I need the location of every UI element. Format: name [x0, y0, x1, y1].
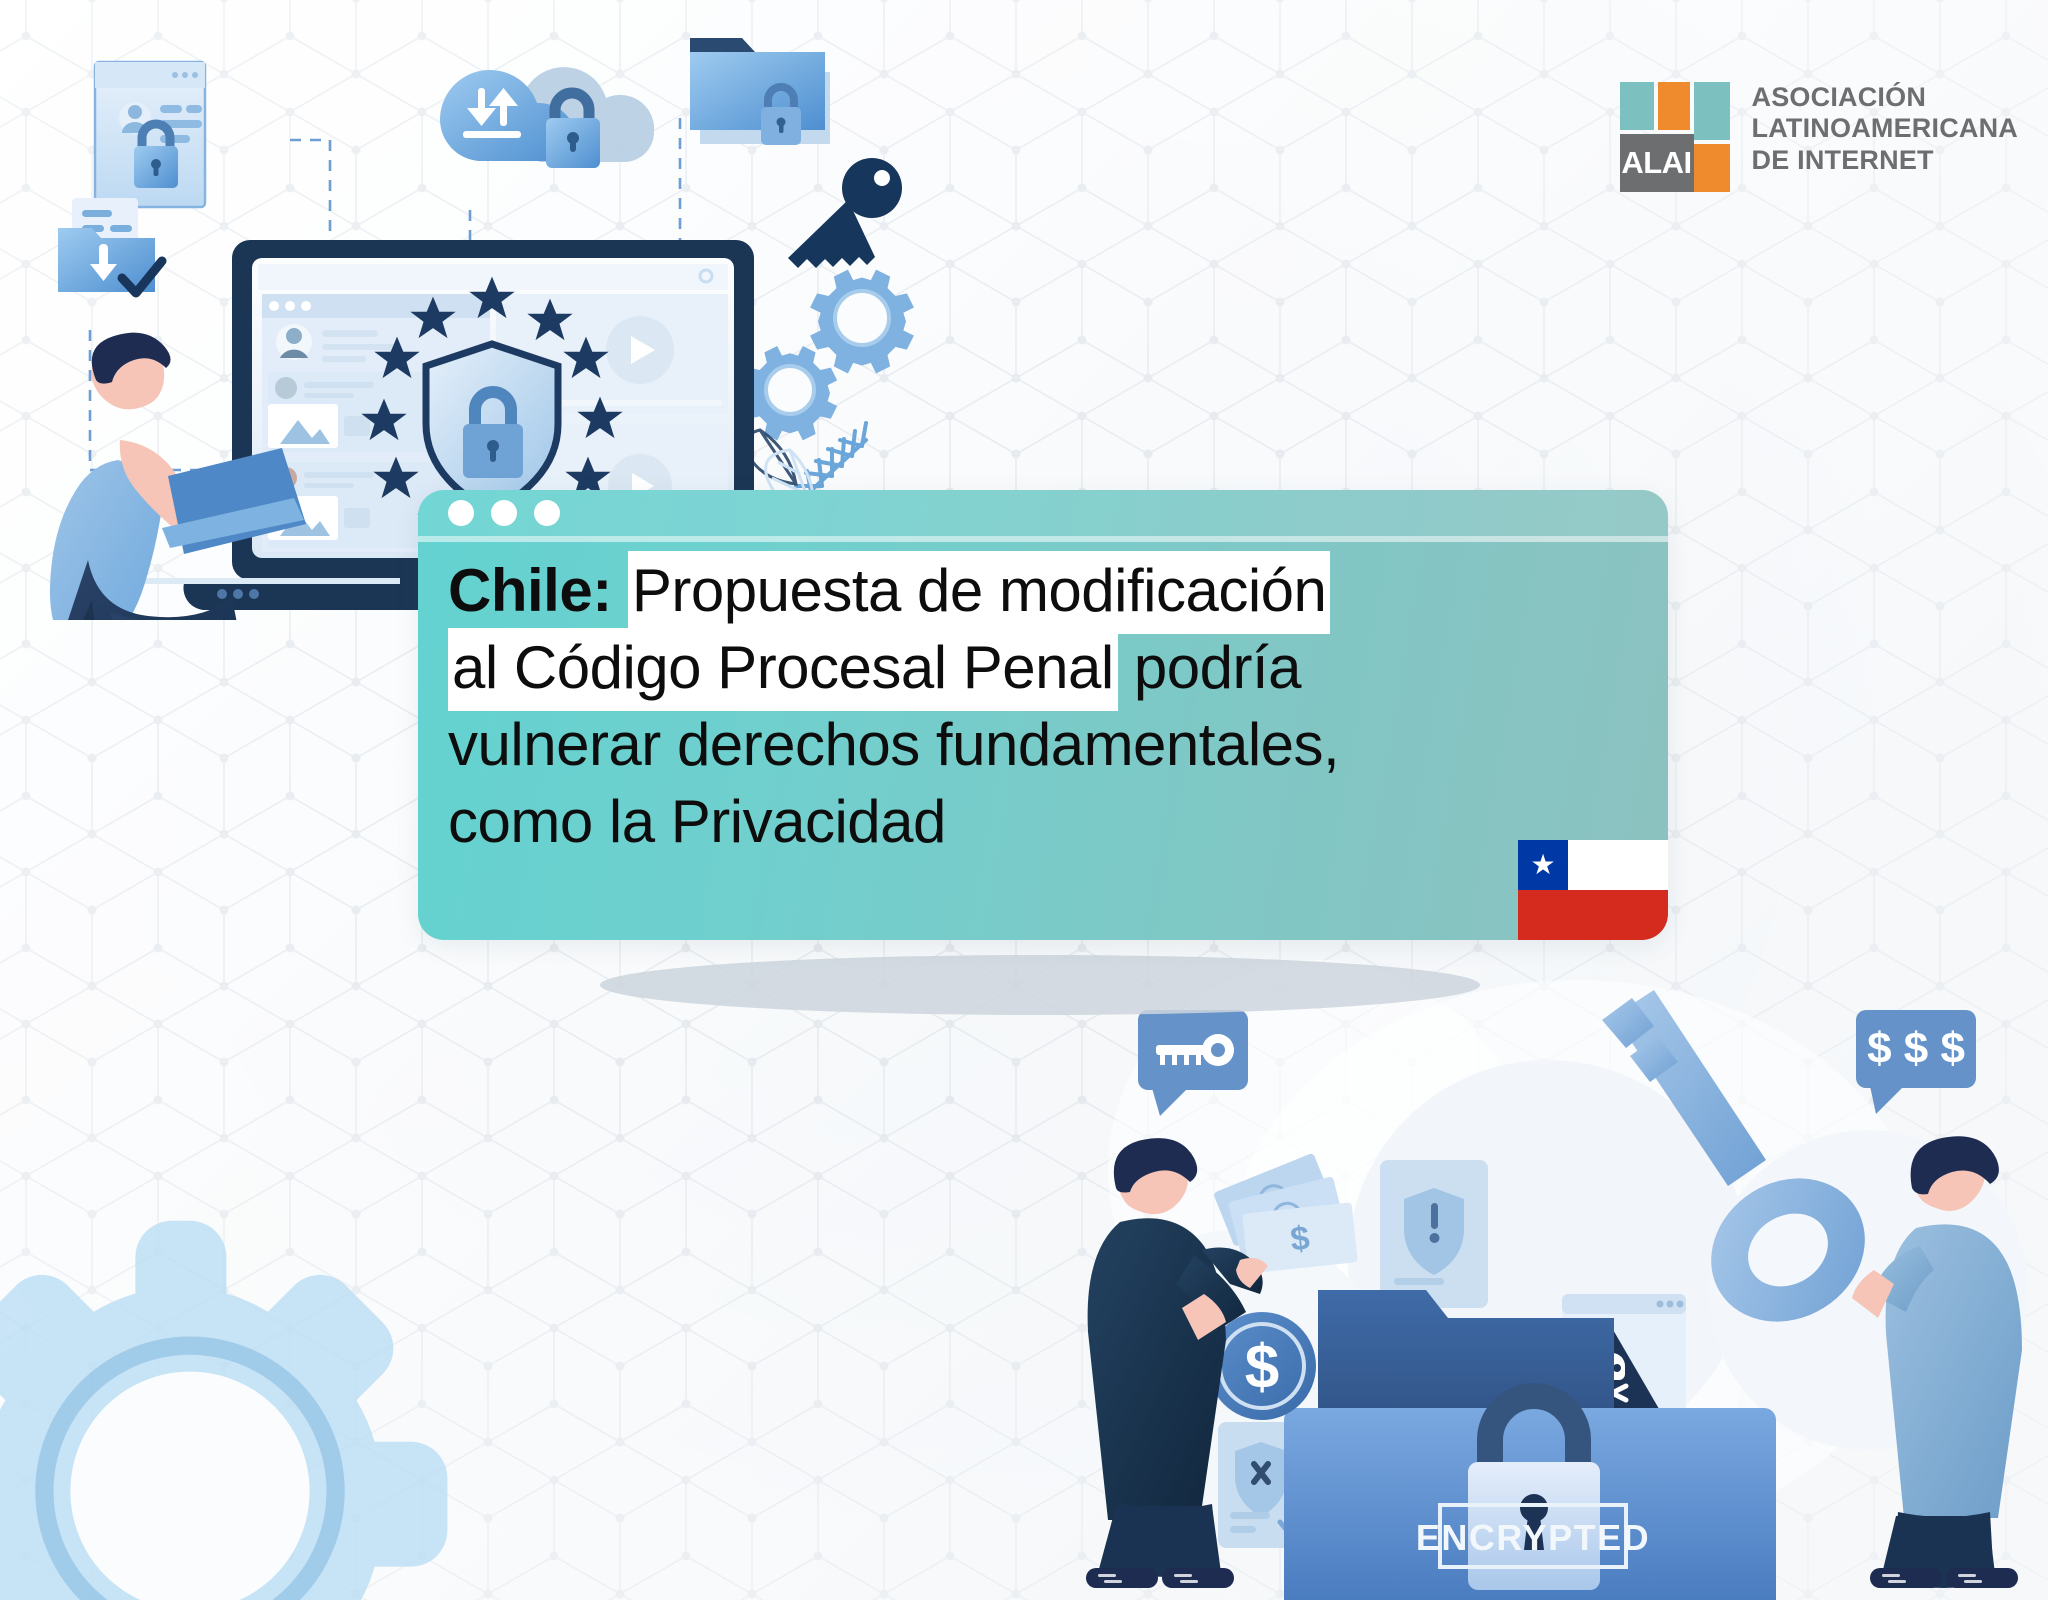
logo-abbrev-tile: ALAI [1620, 134, 1694, 192]
headline: Chile: Propuesta de modificación al Códi… [448, 552, 1648, 860]
money-bubble-label: $ $ $ [1867, 1024, 1965, 1073]
shield-alert-card [1380, 1160, 1488, 1308]
card-window-bar [418, 490, 1668, 536]
key-icon [788, 158, 902, 268]
logo-line-2: LATINOAMERICANA [1752, 113, 2018, 144]
encrypted-label: ENCRYPTED [1416, 1517, 1650, 1558]
alai-logo[interactable]: ALAI ASOCIACIÓN LATINOAMERICANA DE INTER… [1620, 82, 2018, 192]
logo-tile-orange-top [1658, 82, 1690, 130]
alai-logo-wordmark: ASOCIACIÓN LATINOAMERICANA DE INTERNET [1752, 82, 2018, 176]
headline-plain-2: podría [1134, 634, 1301, 701]
logo-tile-teal-right [1694, 82, 1730, 140]
ransomware-illustration: $ $ $ [1028, 960, 2048, 1600]
cloud-sync-lock-icon [440, 67, 654, 168]
window-dot-2[interactable] [491, 500, 517, 526]
key-bubble [1138, 1010, 1248, 1116]
poster-canvas: $ $ $ [0, 0, 2048, 1600]
gears-icon [743, 270, 914, 441]
background-gear-icon [0, 1200, 450, 1600]
svg-text:$: $ [1245, 1333, 1279, 1402]
login-card-lock-icon [95, 62, 205, 207]
card-window-bar-separator [418, 536, 1668, 542]
alai-logo-mark: ALAI [1620, 82, 1730, 192]
logo-tile-teal-tl [1620, 82, 1654, 130]
headline-line-2: al Código Procesal Penal podría [448, 629, 1648, 706]
headline-line-4: como la Privacidad [448, 783, 1648, 860]
headline-highlight-1: Propuesta de modificación [628, 551, 1331, 634]
download-folder-check-icon [58, 198, 162, 293]
svg-text:$: $ [1289, 1219, 1312, 1259]
headline-card: Chile: Propuesta de modificación al Códi… [418, 490, 1668, 940]
headline-country-label: Chile: [448, 557, 612, 624]
headline-line-3: vulnerar derechos fundamentales, [448, 706, 1648, 783]
logo-tile-orange-br [1694, 144, 1730, 192]
flag-red-band [1518, 890, 1668, 940]
card-shadow [600, 955, 1480, 1015]
logo-line-3: DE INTERNET [1752, 145, 2018, 176]
headline-highlight-2: al Código Procesal Penal [448, 628, 1118, 711]
flag-star-icon: ★ [1530, 851, 1555, 879]
chile-flag-icon: ★ [1518, 840, 1668, 940]
headline-line-1: Chile: Propuesta de modificación [448, 552, 1648, 629]
logo-line-1: ASOCIACIÓN [1752, 82, 2018, 113]
window-dot-3[interactable] [534, 500, 560, 526]
window-dots [448, 500, 560, 526]
logo-abbrev-text: ALAI [1621, 145, 1691, 181]
window-dot-1[interactable] [448, 500, 474, 526]
money-bubble: $ $ $ [1856, 1010, 1976, 1114]
folder-lock-icon [690, 38, 830, 145]
